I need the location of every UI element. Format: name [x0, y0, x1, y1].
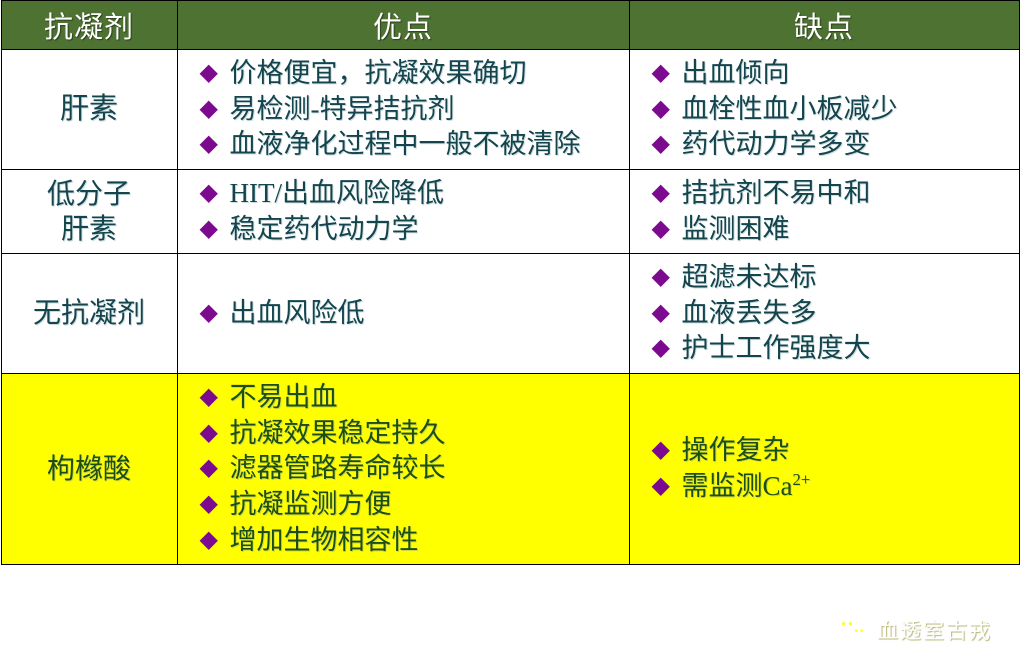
diamond-bullet-icon: ◆ — [200, 176, 224, 211]
cons-item: ◆药代动力学多变 — [652, 127, 1013, 163]
diamond-bullet-icon: ◆ — [200, 212, 224, 247]
pros-item: ◆稳定药代动力学 — [200, 212, 623, 248]
pros-item-text: HIT/出血风险降低 — [230, 178, 444, 208]
cons-item: ◆血栓性血小板减少 — [652, 92, 1013, 128]
cons-list: ◆操作复杂◆需监测Ca2+ — [630, 427, 1019, 510]
cons-cell: ◆超滤未达标◆血液丢失多◆护士工作强度大 — [629, 254, 1019, 374]
pros-list: ◆出血风险低 — [178, 290, 629, 338]
pros-item: ◆抗凝监测方便 — [200, 487, 623, 523]
bottom-strip — [0, 656, 1020, 661]
pros-item-text: 稳定药代动力学 — [230, 214, 419, 244]
header-row: 抗凝剂 优点 缺点 — [1, 1, 1019, 50]
cons-item-text: 护士工作强度大 — [682, 333, 871, 363]
agent-name-cell: 枸橼酸 — [1, 374, 177, 565]
cons-item-text: 药代动力学多变 — [682, 129, 871, 159]
cons-item: ◆出血倾向 — [652, 56, 1013, 92]
cons-item-text: 需监测Ca2+ — [682, 471, 811, 501]
diamond-bullet-icon: ◆ — [200, 380, 224, 415]
cons-cell: ◆操作复杂◆需监测Ca2+ — [629, 374, 1019, 565]
cons-item-text: 血栓性血小板减少 — [682, 94, 898, 124]
cons-item: ◆超滤未达标 — [652, 260, 1013, 296]
cons-list: ◆出血倾向◆血栓性血小板减少◆药代动力学多变 — [630, 50, 1019, 169]
watermark-label: 血透室古戎 — [877, 615, 992, 645]
cons-item: ◆监测困难 — [652, 212, 1013, 248]
pros-cell: ◆不易出血◆抗凝效果稳定持久◆滤器管路寿命较长◆抗凝监测方便◆增加生物相容性 — [177, 374, 629, 565]
diamond-bullet-icon: ◆ — [200, 92, 224, 127]
diamond-bullet-icon: ◆ — [200, 451, 224, 486]
agent-name-cell: 肝素 — [1, 50, 177, 170]
cons-item-text: 监测困难 — [682, 214, 790, 244]
pros-item: ◆滤器管路寿命较长 — [200, 451, 623, 487]
pros-item: ◆易检测-特异拮抗剂 — [200, 92, 623, 128]
pros-item-text: 价格便宜，抗凝效果确切 — [230, 58, 527, 88]
pros-item-text: 增加生物相容性 — [230, 525, 419, 555]
column-header-pros: 优点 — [177, 1, 629, 50]
table-row: 肝素◆价格便宜，抗凝效果确切◆易检测-特异拮抗剂◆血液净化过程中一般不被清除◆出… — [1, 50, 1019, 170]
slide-page: 抗凝剂 优点 缺点 肝素◆价格便宜，抗凝效果确切◆易检测-特异拮抗剂◆血液净化过… — [0, 0, 1020, 661]
cons-list: ◆拮抗剂不易中和◆监测困难 — [630, 170, 1019, 253]
pros-item-text: 出血风险低 — [230, 298, 365, 328]
pros-item-text: 抗凝效果稳定持久 — [230, 418, 446, 448]
diamond-bullet-icon: ◆ — [652, 469, 676, 504]
pros-cell: ◆价格便宜，抗凝效果确切◆易检测-特异拮抗剂◆血液净化过程中一般不被清除 — [177, 50, 629, 170]
cons-item-text: 出血倾向 — [682, 58, 790, 88]
column-header-agent: 抗凝剂 — [1, 1, 177, 50]
diamond-bullet-icon: ◆ — [652, 331, 676, 366]
watermark: 血透室古戎 — [835, 615, 992, 645]
pros-item-text: 易检测-特异拮抗剂 — [230, 94, 455, 124]
cons-item: ◆护士工作强度大 — [652, 331, 1013, 367]
diamond-bullet-icon: ◆ — [652, 260, 676, 295]
diamond-bullet-icon: ◆ — [652, 296, 676, 331]
pros-item: ◆HIT/出血风险降低 — [200, 176, 623, 212]
agent-name-cell: 无抗凝剂 — [1, 254, 177, 374]
diamond-bullet-icon: ◆ — [200, 416, 224, 451]
pros-cell: ◆HIT/出血风险降低◆稳定药代动力学 — [177, 169, 629, 253]
cons-item: ◆拮抗剂不易中和 — [652, 176, 1013, 212]
diamond-bullet-icon: ◆ — [200, 487, 224, 522]
pros-cell: ◆出血风险低 — [177, 254, 629, 374]
pros-item-text: 抗凝监测方便 — [230, 489, 392, 519]
agent-name-cell: 低分子肝素 — [1, 169, 177, 253]
cons-item-text: 超滤未达标 — [682, 262, 817, 292]
table-row: 枸橼酸◆不易出血◆抗凝效果稳定持久◆滤器管路寿命较长◆抗凝监测方便◆增加生物相容… — [1, 374, 1019, 565]
pros-item: ◆出血风险低 — [200, 296, 623, 332]
diamond-bullet-icon: ◆ — [652, 433, 676, 468]
pros-list: ◆价格便宜，抗凝效果确切◆易检测-特异拮抗剂◆血液净化过程中一般不被清除 — [178, 50, 629, 169]
cons-item-text: 血液丢失多 — [682, 298, 817, 328]
diamond-bullet-icon: ◆ — [200, 56, 224, 91]
cons-item: ◆操作复杂 — [652, 433, 1013, 469]
pros-item-text: 不易出血 — [230, 382, 338, 412]
table-row: 无抗凝剂◆出血风险低◆超滤未达标◆血液丢失多◆护士工作强度大 — [1, 254, 1019, 374]
cons-list: ◆超滤未达标◆血液丢失多◆护士工作强度大 — [630, 254, 1019, 373]
cons-item-text: 拮抗剂不易中和 — [682, 178, 871, 208]
table-row: 低分子肝素◆HIT/出血风险降低◆稳定药代动力学◆拮抗剂不易中和◆监测困难 — [1, 169, 1019, 253]
pros-item: ◆增加生物相容性 — [200, 523, 623, 559]
cons-cell: ◆出血倾向◆血栓性血小板减少◆药代动力学多变 — [629, 50, 1019, 170]
diamond-bullet-icon: ◆ — [200, 296, 224, 331]
table-body: 肝素◆价格便宜，抗凝效果确切◆易检测-特异拮抗剂◆血液净化过程中一般不被清除◆出… — [1, 50, 1019, 565]
diamond-bullet-icon: ◆ — [200, 127, 224, 162]
diamond-bullet-icon: ◆ — [200, 523, 224, 558]
table-header: 抗凝剂 优点 缺点 — [1, 1, 1019, 50]
pros-item-text: 血液净化过程中一般不被清除 — [230, 129, 581, 159]
column-header-cons: 缺点 — [629, 1, 1019, 50]
pros-list: ◆不易出血◆抗凝效果稳定持久◆滤器管路寿命较长◆抗凝监测方便◆增加生物相容性 — [178, 374, 629, 564]
pros-list: ◆HIT/出血风险降低◆稳定药代动力学 — [178, 170, 629, 253]
pros-item: ◆价格便宜，抗凝效果确切 — [200, 56, 623, 92]
cons-cell: ◆拮抗剂不易中和◆监测困难 — [629, 169, 1019, 253]
diamond-bullet-icon: ◆ — [652, 92, 676, 127]
pros-item: ◆血液净化过程中一般不被清除 — [200, 127, 623, 163]
diamond-bullet-icon: ◆ — [652, 127, 676, 162]
diamond-bullet-icon: ◆ — [652, 212, 676, 247]
cons-item: ◆需监测Ca2+ — [652, 469, 1013, 505]
diamond-bullet-icon: ◆ — [652, 56, 676, 91]
diamond-bullet-icon: ◆ — [652, 176, 676, 211]
pros-item: ◆抗凝效果稳定持久 — [200, 416, 623, 452]
anticoagulant-comparison-table: 抗凝剂 优点 缺点 肝素◆价格便宜，抗凝效果确切◆易检测-特异拮抗剂◆血液净化过… — [1, 0, 1020, 565]
pros-item-text: 滤器管路寿命较长 — [230, 453, 446, 483]
pros-item: ◆不易出血 — [200, 380, 623, 416]
cons-item-text: 操作复杂 — [682, 435, 790, 465]
cons-item: ◆血液丢失多 — [652, 296, 1013, 332]
wechat-icon — [835, 616, 869, 644]
